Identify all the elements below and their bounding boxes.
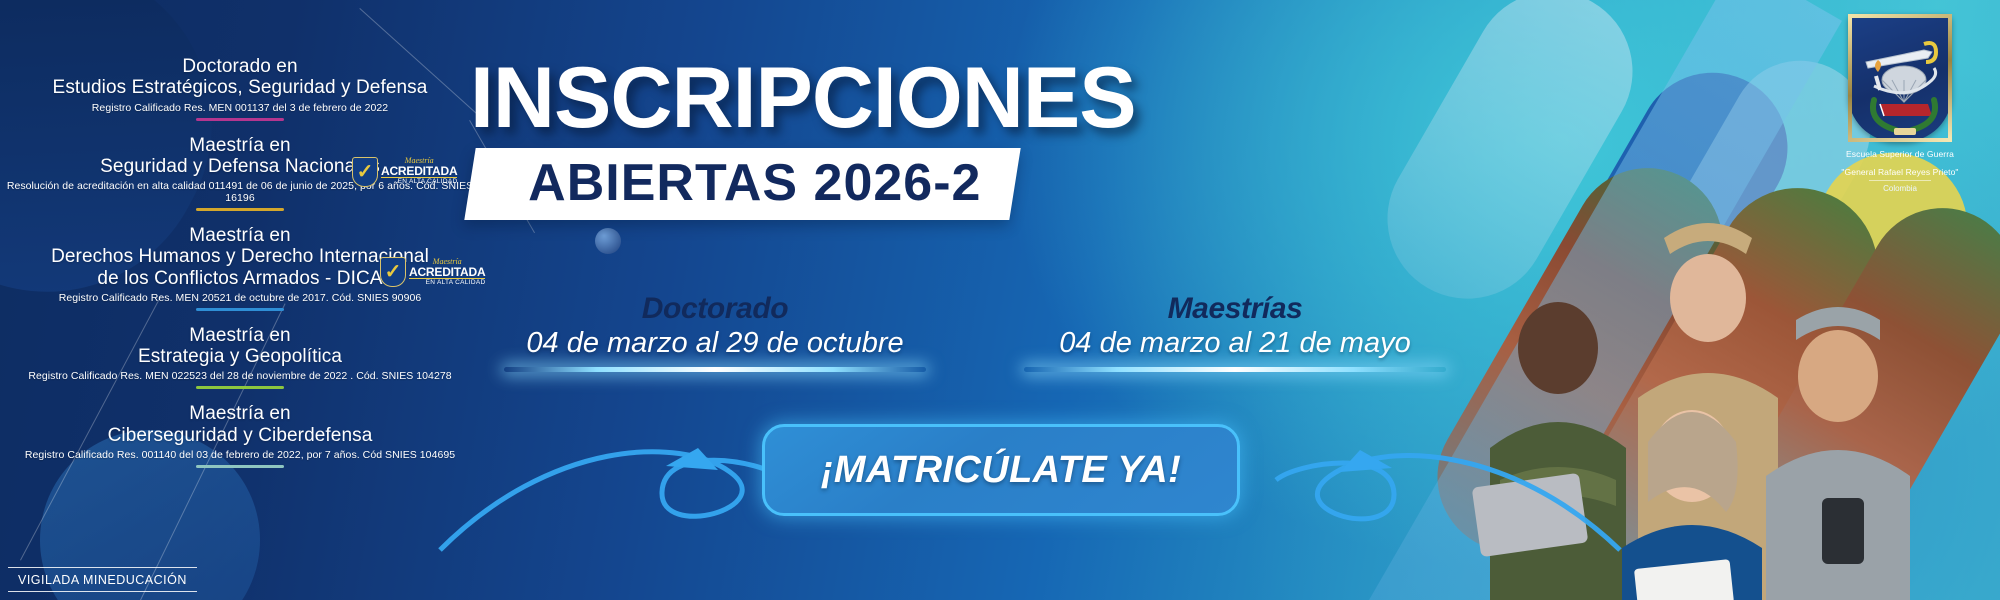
- accreditation-seal-icon: ✓ Maestría ACREDITADA EN ALTA CALIDAD: [380, 257, 485, 287]
- date-range: 04 de marzo al 29 de octubre: [470, 327, 960, 360]
- institution-logo: Escuela Superior de Guerra "General Rafa…: [1834, 14, 1966, 196]
- crest-artwork: [1852, 18, 1952, 142]
- date-column-maestrias: Maestrías 04 de marzo al 21 de mayo: [990, 292, 1480, 372]
- program-meta: Registro Calificado Res. MEN 022523 del …: [0, 370, 480, 382]
- headline-block: INSCRIPCIONES ABIERTAS 2026-2: [470, 58, 1470, 220]
- program-rule: [196, 465, 284, 468]
- institution-name-line1: Escuela Superior de Guerra: [1834, 149, 1966, 160]
- programs-list: Doctorado en Estudios Estratégicos, Segu…: [0, 56, 480, 482]
- program-meta: Registro Calificado Res. MEN 20521 de oc…: [0, 292, 480, 304]
- date-underline-glow: [504, 367, 925, 372]
- vigilada-mineducacion-badge: VIGILADA MINEDUCACIÓN: [8, 567, 197, 592]
- check-icon: ✓: [357, 162, 374, 182]
- institution-country: Colombia: [1869, 180, 1931, 193]
- program-rule: [196, 118, 284, 121]
- shield-crest-icon: [1848, 14, 1952, 142]
- date-range: 04 de marzo al 21 de mayo: [990, 327, 1480, 360]
- program-item: Doctorado en Estudios Estratégicos, Segu…: [0, 56, 480, 121]
- program-name: Estudios Estratégicos, Seguridad y Defen…: [0, 77, 480, 98]
- seal-main-label: ACREDITADA: [381, 165, 457, 177]
- check-shield-icon: ✓: [352, 157, 378, 187]
- date-underline-glow: [1024, 367, 1445, 372]
- check-icon: ✓: [385, 262, 402, 282]
- enroll-now-label: ¡MATRICÚLATE YA!: [821, 449, 1181, 492]
- institution-name-line2: "General Rafael Reyes Prieto": [1834, 167, 1966, 178]
- check-shield-icon: ✓: [380, 257, 406, 287]
- date-title: Maestrías: [990, 292, 1480, 325]
- headline-main: INSCRIPCIONES: [470, 58, 1470, 140]
- dates-block: Doctorado 04 de marzo al 29 de octubre M…: [470, 292, 1480, 372]
- accreditation-seal-icon: ✓ Maestría ACREDITADA EN ALTA CALIDAD: [352, 157, 457, 187]
- cta-wrapper: ¡MATRICÚLATE YA!: [762, 424, 1240, 516]
- program-item: Maestría en Seguridad y Defensa Nacional…: [0, 135, 480, 212]
- program-rule: [196, 208, 284, 211]
- program-name: Estrategia y Geopolítica: [0, 346, 480, 367]
- program-item: Maestría en Ciberseguridad y Ciberdefens…: [0, 403, 480, 468]
- program-rule: [196, 308, 284, 311]
- headline-band: ABIERTAS 2026-2: [464, 148, 1021, 220]
- headline-band-text: ABIERTAS 2026-2: [528, 157, 981, 209]
- program-item: Maestría en Derechos Humanos y Derecho I…: [0, 225, 480, 311]
- program-level: Maestría en: [0, 403, 480, 424]
- program-level: Maestría en: [0, 225, 480, 246]
- program-rule: [196, 386, 284, 389]
- enroll-now-button[interactable]: ¡MATRICÚLATE YA!: [762, 424, 1240, 516]
- decor-dot-1: [595, 228, 621, 254]
- seal-sub-label: EN ALTA CALIDAD: [409, 278, 485, 287]
- program-name: Ciberseguridad y Ciberdefensa: [0, 425, 480, 446]
- seal-sub-label: EN ALTA CALIDAD: [381, 177, 457, 186]
- date-column-doctorado: Doctorado 04 de marzo al 29 de octubre: [470, 292, 960, 372]
- banner-root: Doctorado en Estudios Estratégicos, Segu…: [0, 0, 2000, 600]
- program-meta: Registro Calificado Res. MEN 001137 del …: [0, 102, 480, 114]
- program-level: Maestría en: [0, 135, 480, 156]
- program-level: Doctorado en: [0, 56, 480, 77]
- program-meta: Registro Calificado Res. 001140 del 03 d…: [0, 449, 480, 461]
- seal-main-label: ACREDITADA: [409, 266, 485, 278]
- students-photo-collage: [1440, 180, 2000, 600]
- date-title: Doctorado: [470, 292, 960, 325]
- program-item: Maestría en Estrategia y Geopolítica Reg…: [0, 325, 480, 390]
- program-level: Maestría en: [0, 325, 480, 346]
